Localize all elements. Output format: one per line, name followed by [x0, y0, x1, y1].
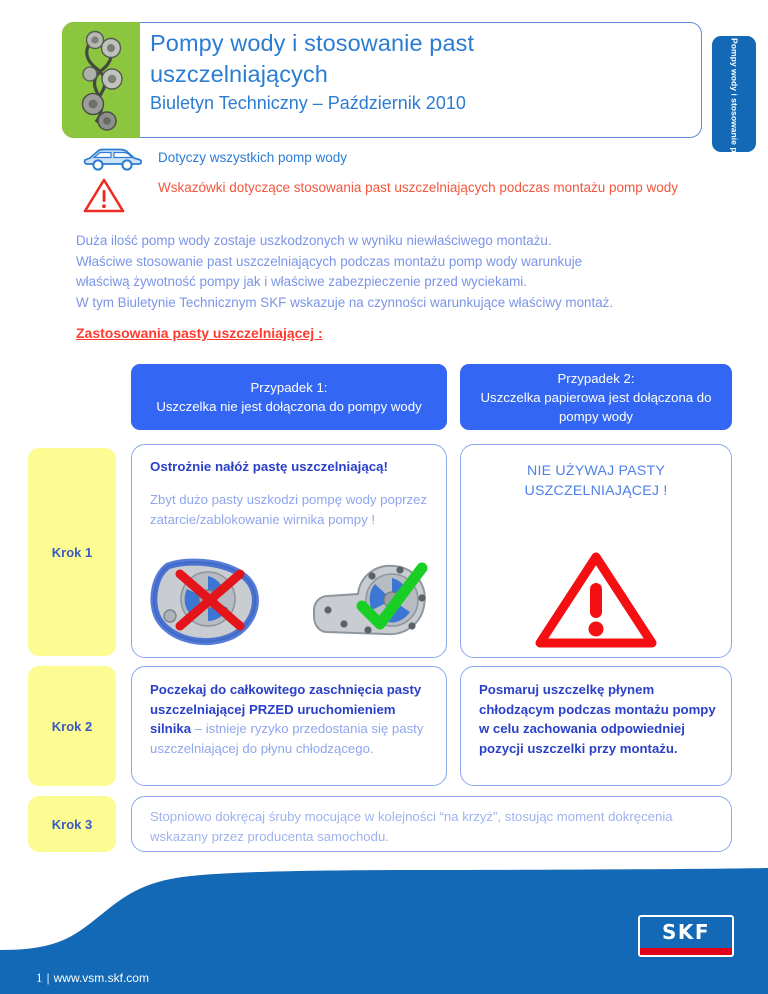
step2-case1-body: Poczekaj do całkowitego zaschnięcia past…	[150, 680, 432, 759]
document-header: Pompy wody i stosowanie past uszczelniaj…	[62, 22, 702, 138]
page-number: 1	[36, 970, 43, 985]
large-red-warning-triangle	[532, 549, 660, 654]
warning-triangle-glyph	[82, 176, 126, 214]
case-2-description: Uszczelka papierowa jest dołączona do po…	[481, 390, 712, 424]
large-warning-triangle-glyph	[532, 549, 660, 649]
cell-step3: Stopniowo dokręcaj śruby mocujące w kole…	[131, 796, 732, 852]
page-title-line2: uszczelniających	[150, 61, 328, 87]
notice-block: Dotyczy wszystkich pomp wody Wskazówki d…	[78, 146, 708, 218]
step-label-3: Krok 3	[28, 796, 116, 852]
skf-logo-text: SKF	[640, 920, 732, 944]
step1-case2-heading-line1: NIE UŻYWAJ PASTY	[527, 463, 665, 479]
page-subtitle: Biuletyn Techniczny – Październik 2010	[150, 91, 690, 116]
car-icon	[78, 146, 158, 172]
intro-line-1: Duża ilość pomp wody zostaje uszkodzonyc…	[76, 231, 716, 252]
step1-case2-heading-line2: USZCZELNIAJĄCEJ !	[525, 483, 668, 499]
step1-case2-heading: NIE UŻYWAJ PASTY USZCZELNIAJĄCEJ !	[461, 445, 731, 501]
scope-notice-row: Dotyczy wszystkich pomp wody	[78, 146, 708, 172]
step2-case1-light-part: – istnieje ryzyko przedostania się pasty…	[150, 721, 423, 756]
case-2-label: Przypadek 2:	[558, 371, 635, 386]
footer-text: 1|www.vsm.skf.com	[36, 969, 149, 987]
case-header-2: Przypadek 2: Uszczelka papierowa jest do…	[460, 364, 732, 430]
case-1-label: Przypadek 1:	[251, 380, 328, 395]
water-pump-photo-with-red-cross	[146, 554, 278, 648]
step1-case1-title: Ostrożnie nałóż pastę uszczelniającą!	[150, 458, 432, 476]
belt-drive-thumbnail	[62, 22, 140, 138]
skf-logo-red-bar	[640, 948, 732, 955]
step-label-1: Krok 1	[28, 448, 116, 656]
step-label-2: Krok 2	[28, 666, 116, 786]
cell-step1-case1: Ostrożnie nałóż pastę uszczelniającą! Zb…	[131, 444, 447, 658]
step2-case2-body: Posmaruj uszczelkę płynem chłodzącym pod…	[479, 680, 717, 758]
side-tab: Pompy wody i stosowanie past uszczelniaj…	[712, 36, 756, 152]
step3-body: Stopniowo dokręcaj śruby mocujące w kole…	[150, 807, 717, 847]
footer-separator: |	[47, 971, 50, 985]
section-heading: Zastosowania pasty uszczelniającej :	[76, 325, 323, 341]
intro-line-4: W tym Biuletynie Technicznym SKF wskazuj…	[76, 293, 716, 314]
page-title: Pompy wody i stosowanie past uszczelniaj…	[150, 28, 690, 90]
pump-bad-illustration	[146, 554, 278, 648]
belt-drive-icon	[62, 22, 140, 138]
cell-step2-case2: Posmaruj uszczelkę płynem chłodzącym pod…	[460, 666, 732, 786]
cell-step1-case2: NIE UŻYWAJ PASTY USZCZELNIAJĄCEJ !	[460, 444, 732, 658]
warning-notice-text: Wskazówki dotyczące stosowania past uszc…	[158, 176, 678, 198]
intro-line-2: Właściwe stosowanie past uszczelniającyc…	[76, 252, 716, 273]
intro-line-3: właściwą żywotność pompy jak i właściwe …	[76, 272, 716, 293]
page-title-line1: Pompy wody i stosowanie past	[150, 30, 474, 56]
header-text-block: Pompy wody i stosowanie past uszczelniaj…	[150, 28, 690, 116]
car-icon-glyph	[82, 146, 144, 172]
scope-notice-text: Dotyczy wszystkich pomp wody	[158, 146, 347, 167]
warning-triangle-icon	[78, 176, 158, 214]
water-pump-photo-with-green-check	[304, 554, 436, 648]
case-header-1: Przypadek 1: Uszczelka nie jest dołączon…	[131, 364, 447, 430]
cell-step2-case1: Poczekaj do całkowitego zaschnięcia past…	[131, 666, 447, 786]
pump-good-illustration	[304, 554, 436, 648]
pump-figure-row	[146, 553, 436, 649]
footer-website: www.vsm.skf.com	[54, 971, 149, 985]
intro-paragraph: Duża ilość pomp wody zostaje uszkodzonyc…	[76, 231, 716, 313]
side-tab-label: Pompy wody i stosowanie past uszczelniaj…	[729, 38, 740, 150]
case-1-description: Uszczelka nie jest dołączona do pompy wo…	[156, 399, 421, 414]
step1-case1-body: Zbyt dużo pasty uszkodzi pompę wody popr…	[150, 490, 432, 530]
warning-notice-row: Wskazówki dotyczące stosowania past uszc…	[78, 176, 708, 214]
skf-logo: SKF	[638, 915, 734, 957]
